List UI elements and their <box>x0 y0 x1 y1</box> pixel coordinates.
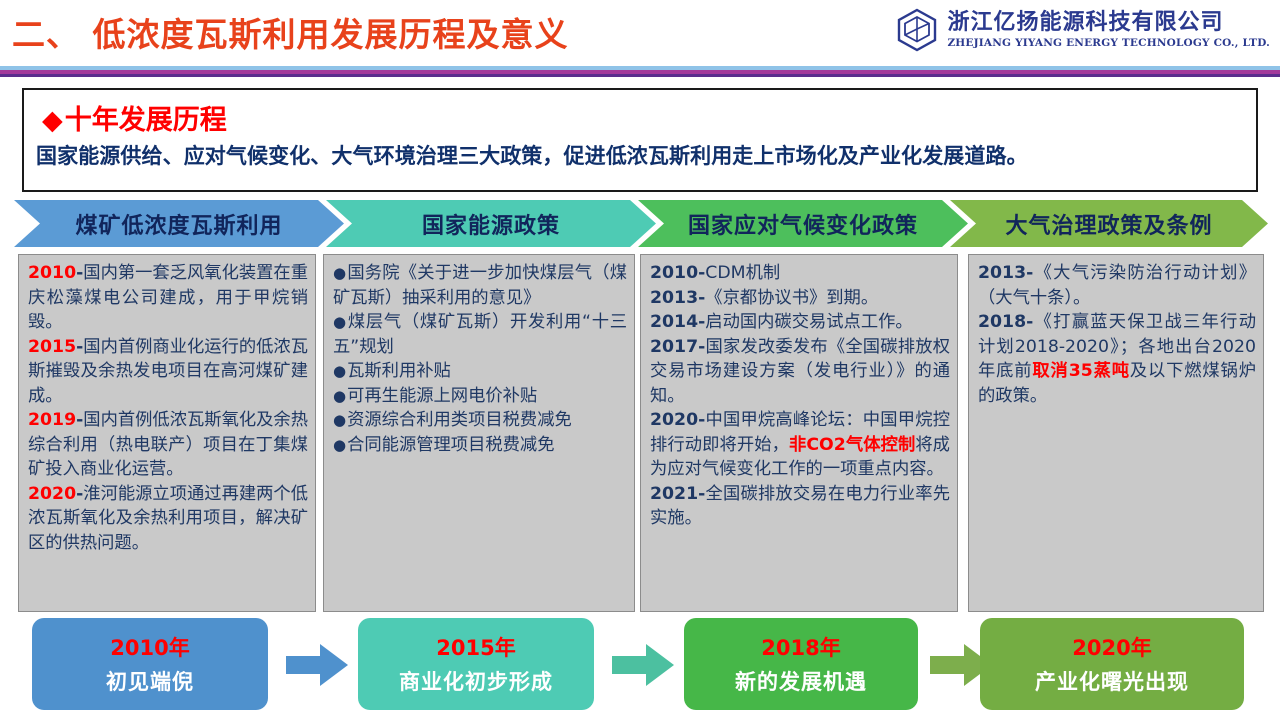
entry-dash: - <box>698 410 705 430</box>
timeline-entry: 2010-CDM机制 <box>650 261 950 286</box>
panel-heading-text: 十年发展历程 <box>65 105 227 136</box>
stage-name: 新的发展机遇 <box>735 666 867 696</box>
company-name-cn: 浙江亿扬能源科技有限公司 <box>947 11 1270 34</box>
stage-name: 初见端倪 <box>106 666 194 696</box>
timeline-stages: 2010年 初见端倪 2015年 商业化初步形成 2018年 新的发展机遇 20… <box>0 618 1280 718</box>
panel-subheading: 国家能源供给、应对气候变化、大气环境治理三大政策，促进低浓瓦斯利用走上市场化及产… <box>36 140 1028 170</box>
entry-dash: - <box>698 288 705 308</box>
stage-name: 商业化初步形成 <box>399 666 553 696</box>
column-energy-policy: ●国务院《关于进一步加快煤层气（煤矿瓦斯）抽采利用的意见》●煤层气（煤矿瓦斯）开… <box>323 254 635 612</box>
timeline-entry: 2018-《打赢蓝天保卫战三年行动计划2018-2020》；各地出台2020年底… <box>978 310 1256 408</box>
timeline-entry: 2013-《京都协议书》到期。 <box>650 286 950 311</box>
entry-year: 2010 <box>650 263 698 283</box>
chevron-climate-policy[interactable]: 国家应对气候变化政策 <box>638 200 968 247</box>
stage-box-2010[interactable]: 2010年 初见端倪 <box>32 618 268 710</box>
chevron-energy-policy[interactable]: 国家能源政策 <box>326 200 656 247</box>
chevron-coal-mine-gas[interactable]: 煤矿低浓度瓦斯利用 <box>14 200 344 247</box>
timeline-entry: 2020-中国甲烷高峰论坛：中国甲烷控排行动即将开始，非CO2气体控制将成为应对… <box>650 408 950 482</box>
entry-year: 2013 <box>978 263 1026 283</box>
entry-dash: - <box>698 263 705 283</box>
policy-bullet: ●瓦斯利用补贴 <box>333 359 627 384</box>
entry-year: 2017 <box>650 337 698 357</box>
entry-year: 2014 <box>650 312 698 332</box>
timeline-entry: 2014-启动国内碳交易试点工作。 <box>650 310 950 335</box>
chevron-air-policy[interactable]: 大气治理政策及条例 <box>950 200 1268 247</box>
content-columns: 2010-国内第一套乏风氧化装置在重庆松藻煤电公司建成，用于甲烷销毁。2015-… <box>18 254 1264 612</box>
entry-year: 2013 <box>650 288 698 308</box>
timeline-entry: 2010-国内第一套乏风氧化装置在重庆松藻煤电公司建成，用于甲烷销毁。 <box>28 261 308 335</box>
red-diamond-icon: ◆ <box>42 105 63 136</box>
company-name-en: ZHEJIANG YIYANG ENERGY TECHNOLOGY CO., L… <box>947 37 1270 49</box>
timeline-entry: 2015-国内首例商业化运行的低浓瓦斯摧毁及余热发电项目在高河煤矿建成。 <box>28 335 308 409</box>
column-air-policy: 2013-《大气污染防治行动计划》（大气十条）。2018-《打赢蓝天保卫战三年行… <box>968 254 1264 612</box>
page-title: 二、 低浓度瓦斯利用发展历程及意义 <box>12 8 569 56</box>
entry-dash: - <box>76 484 83 504</box>
entry-year: 2015 <box>28 337 76 357</box>
stage-arrow-1 <box>286 644 348 686</box>
entry-dash: - <box>698 312 705 332</box>
stage-year: 2015年 <box>436 632 515 662</box>
entry-year: 2021 <box>650 484 698 504</box>
stage-arrow-2 <box>612 644 674 686</box>
divider-band-purple <box>0 74 1280 77</box>
hexagon-logo-icon <box>896 8 938 52</box>
entry-dash: - <box>76 337 83 357</box>
entry-year: 2020 <box>650 410 698 430</box>
policy-bullet: ●合同能源管理项目税费减免 <box>333 433 627 458</box>
stage-box-2018[interactable]: 2018年 新的发展机遇 <box>684 618 918 710</box>
panel-heading: ◆十年发展历程 <box>42 98 227 137</box>
stage-name: 产业化曙光出现 <box>1035 666 1189 696</box>
entry-year: 2020 <box>28 484 76 504</box>
bullet-icon: ● <box>333 411 346 429</box>
entry-dash: - <box>76 410 83 430</box>
bullet-icon: ● <box>333 436 346 454</box>
column-coal-mine-gas: 2010-国内第一套乏风氧化装置在重庆松藻煤电公司建成，用于甲烷销毁。2015-… <box>18 254 316 612</box>
chevron-band: 煤矿低浓度瓦斯利用 国家能源政策 国家应对气候变化政策 大气治理政策及条例 <box>14 200 1268 247</box>
intro-panel: ◆十年发展历程 国家能源供给、应对气候变化、大气环境治理三大政策，促进低浓瓦斯利… <box>22 88 1258 192</box>
entry-year: 2010 <box>28 263 76 283</box>
entry-dash: - <box>76 263 83 283</box>
stage-year: 2018年 <box>761 632 840 662</box>
column-climate-policy: 2010-CDM机制2013-《京都协议书》到期。2014-启动国内碳交易试点工… <box>640 254 958 612</box>
policy-bullet: ●资源综合利用类项目税费减免 <box>333 408 627 433</box>
bullet-icon: ● <box>333 264 346 282</box>
timeline-entry: 2021-全国碳排放交易在电力行业率先实施。 <box>650 482 950 531</box>
stage-box-2020[interactable]: 2020年 产业化曙光出现 <box>980 618 1244 710</box>
bullet-icon: ● <box>333 387 346 405</box>
timeline-entry: 2013-《大气污染防治行动计划》（大气十条）。 <box>978 261 1256 310</box>
entry-dash: - <box>1026 263 1033 283</box>
company-logo: 浙江亿扬能源科技有限公司 ZHEJIANG YIYANG ENERGY TECH… <box>896 8 1270 52</box>
entry-year: 2019 <box>28 410 76 430</box>
timeline-entry: 2019-国内首例低浓瓦斯氧化及余热综合利用（热电联产）项目在丁集煤矿投入商业化… <box>28 408 308 482</box>
policy-bullet: ●可再生能源上网电价补贴 <box>333 384 627 409</box>
entry-dash: - <box>698 484 705 504</box>
bullet-icon: ● <box>333 313 347 331</box>
stage-year: 2010年 <box>110 632 189 662</box>
slide-canvas: 二、 低浓度瓦斯利用发展历程及意义 浙江亿扬能源科技有限公司 ZHEJIANG … <box>0 0 1280 720</box>
policy-bullet: ●国务院《关于进一步加快煤层气（煤矿瓦斯）抽采利用的意见》 <box>333 261 627 310</box>
stage-box-2015[interactable]: 2015年 商业化初步形成 <box>358 618 594 710</box>
entry-dash: - <box>1026 312 1033 332</box>
stage-year: 2020年 <box>1072 632 1151 662</box>
timeline-entry: 2020-淮河能源立项通过再建两个低浓瓦斯氧化及余热利用项目，解决矿区的供热问题… <box>28 482 308 556</box>
header-divider <box>0 66 1280 77</box>
timeline-entry: 2017-国家发改委发布《全国碳排放权交易市场建设方案（发电行业）》的通知。 <box>650 335 950 409</box>
policy-bullet: ●煤层气（煤矿瓦斯）开发利用“十三五”规划 <box>333 310 627 359</box>
bullet-icon: ● <box>333 362 346 380</box>
entry-year: 2018 <box>978 312 1026 332</box>
entry-dash: - <box>698 337 705 357</box>
